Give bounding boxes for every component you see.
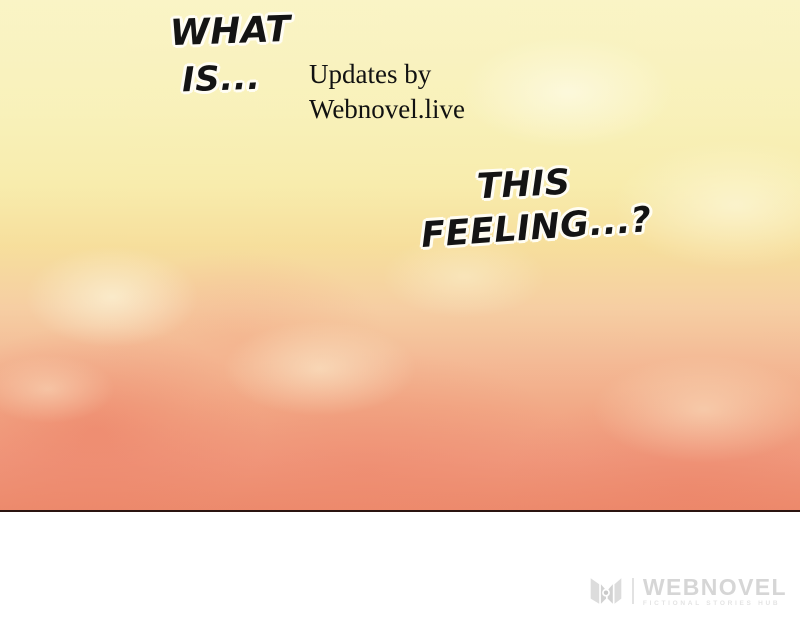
footer-strip: WEBNOVEL FICTIONAL STORIES HUB (0, 513, 800, 620)
watermark-subtitle: FICTIONAL STORIES HUB (643, 601, 787, 608)
watermark-title: WEBNOVEL (643, 576, 787, 599)
webnovel-watermark: WEBNOVEL FICTIONAL STORIES HUB (589, 576, 787, 608)
comic-panel: WHAT IS... THIS FEELING...? Updates by W… (0, 0, 800, 512)
webtoon-page: WHAT IS... THIS FEELING...? Updates by W… (0, 0, 800, 620)
comic-line-is: IS... (181, 61, 261, 98)
panel-bottom-border (0, 510, 800, 512)
webnovel-logo-icon (589, 576, 623, 606)
comic-line-what: WHAT (169, 12, 291, 52)
watermark-text-group: WEBNOVEL FICTIONAL STORIES HUB (643, 576, 787, 608)
watermark-divider (632, 578, 634, 604)
comic-line-this: THIS (476, 166, 571, 206)
credit-overlay-text: Updates by Webnovel.live (309, 57, 465, 126)
